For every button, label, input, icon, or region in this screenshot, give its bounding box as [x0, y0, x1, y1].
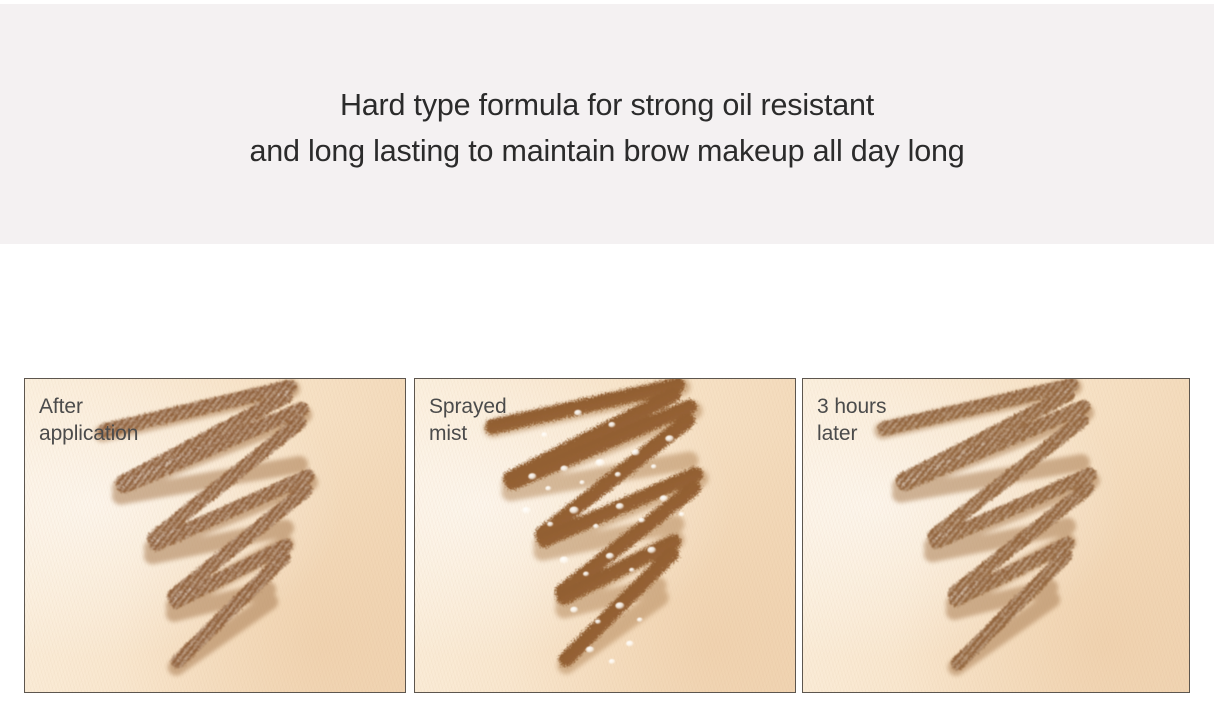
swatch-panel-after-application: After application — [24, 378, 406, 693]
swatch-panel-3-hours-later: 3 hours later — [802, 378, 1190, 693]
headline-line-2: and long lasting to maintain brow makeup… — [0, 128, 1214, 174]
brow-pencil-zigzag-swatch-icon — [415, 379, 795, 692]
headline-banner: Hard type formula for strong oil resista… — [0, 4, 1214, 244]
headline-line-1: Hard type formula for strong oil resista… — [0, 82, 1214, 128]
swatch-panel-sprayed-mist: Sprayed mist — [414, 378, 796, 693]
page-title: Hard type formula for strong oil resista… — [0, 82, 1214, 174]
swatch-comparison-strip: After application — [0, 378, 1214, 695]
brow-pencil-zigzag-swatch-icon — [803, 379, 1189, 692]
brow-pencil-zigzag-swatch-icon — [25, 379, 405, 692]
